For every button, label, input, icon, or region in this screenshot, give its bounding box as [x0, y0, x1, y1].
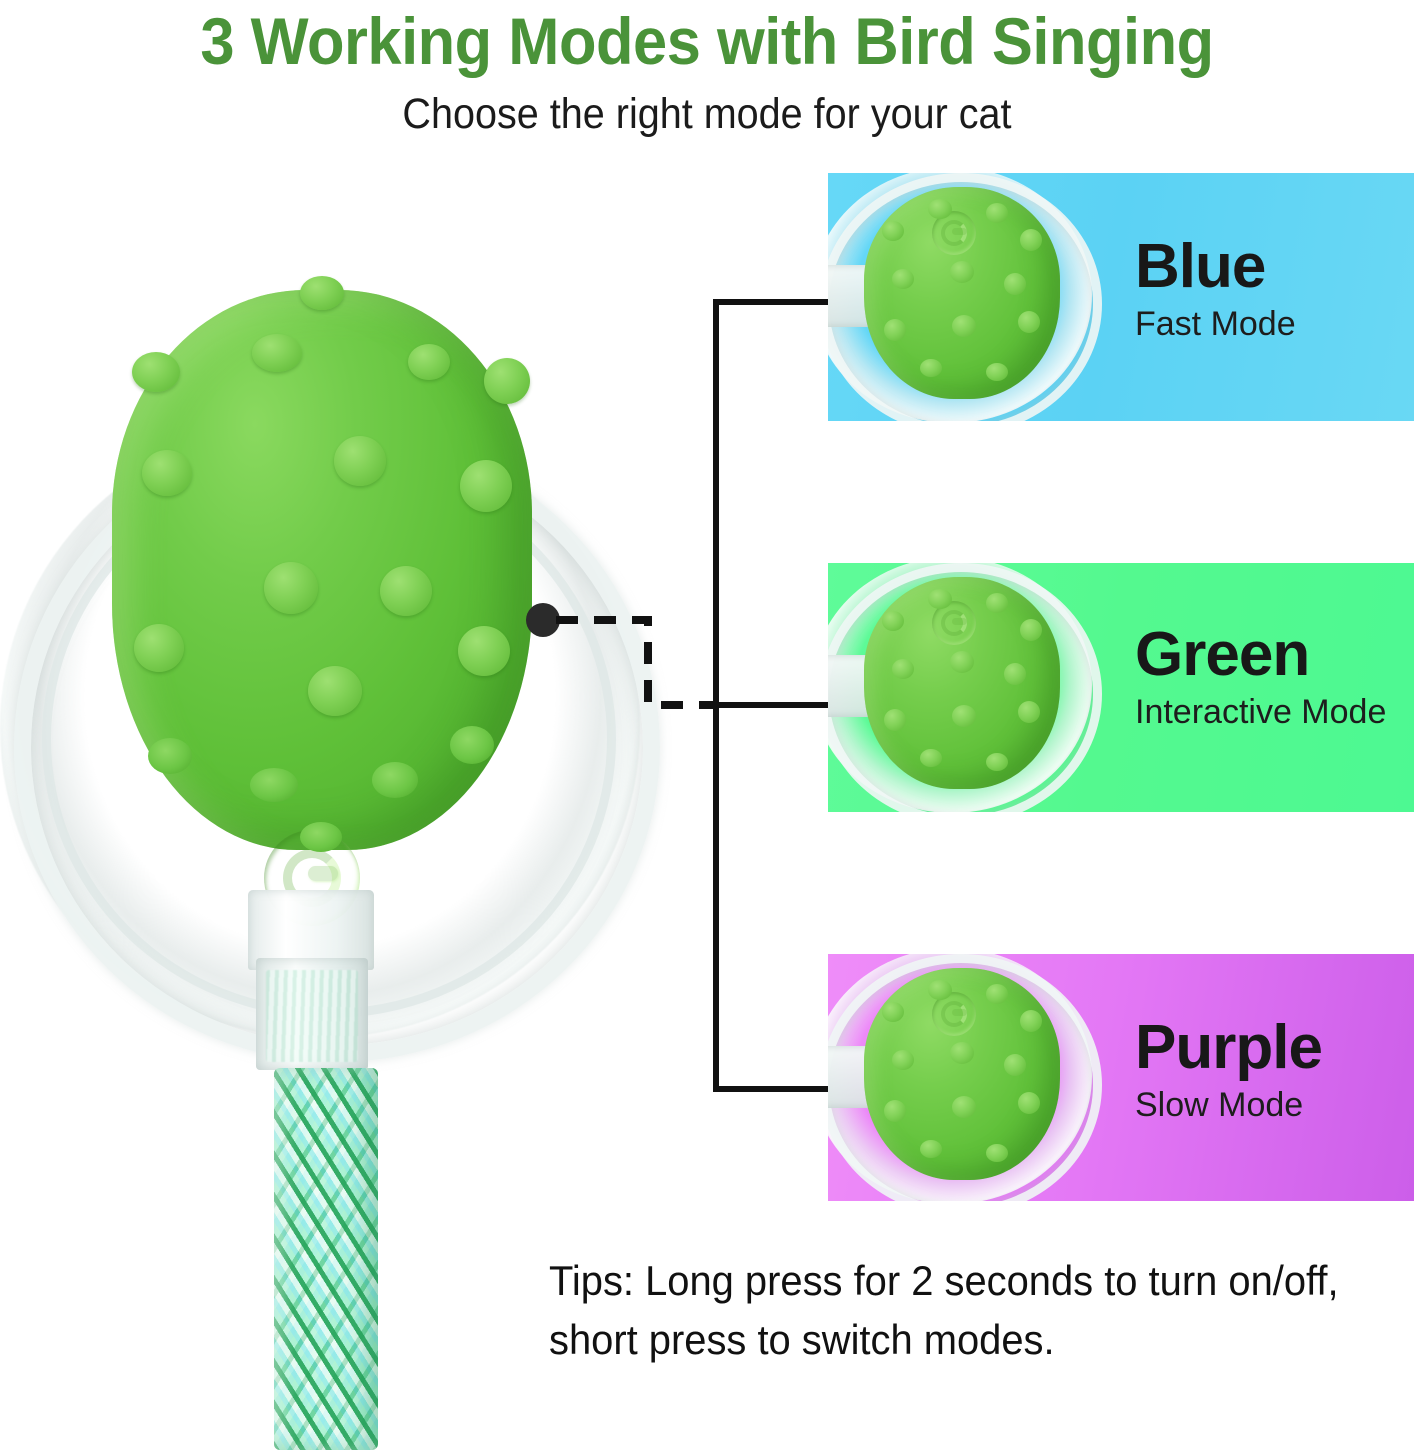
led-collar-inner	[266, 970, 358, 1062]
mode-text-purple: Purple Slow Mode	[1135, 1012, 1322, 1126]
mode-desc-purple: Slow Mode	[1135, 1084, 1322, 1126]
mode-card-green[interactable]: Green Interactive Mode	[828, 563, 1414, 812]
braided-rope-handle	[274, 1068, 378, 1450]
mode-name-purple: Purple	[1135, 1012, 1322, 1084]
page-title: 3 Working Modes with Bird Singing	[49, 2, 1364, 80]
bracket-spine	[716, 302, 718, 1089]
header-banner: 3 Working Modes with Bird Singing Choose…	[0, 0, 1414, 150]
mode-desc-blue: Fast Mode	[1135, 303, 1296, 345]
mode-card-blue[interactable]: Blue Fast Mode	[828, 173, 1414, 421]
silicone-ball	[112, 290, 532, 850]
mode-name-blue: Blue	[1135, 231, 1296, 303]
page-subtitle: Choose the right mode for your cat	[57, 88, 1358, 140]
mode-photo-purple	[828, 954, 1140, 1201]
tips-block: Tips: Long press for 2 seconds to turn o…	[549, 1251, 1357, 1369]
tips-line-2: short press to switch modes.	[549, 1310, 1357, 1369]
mode-text-blue: Blue Fast Mode	[1135, 231, 1296, 345]
tips-line-1: Tips: Long press for 2 seconds to turn o…	[549, 1251, 1357, 1310]
mode-photo-blue	[828, 173, 1140, 421]
mode-photo-green	[828, 563, 1140, 812]
mode-card-purple[interactable]: Purple Slow Mode	[828, 954, 1414, 1201]
mode-desc-green: Interactive Mode	[1135, 691, 1386, 733]
mode-name-green: Green	[1135, 619, 1386, 691]
mode-text-green: Green Interactive Mode	[1135, 619, 1386, 733]
